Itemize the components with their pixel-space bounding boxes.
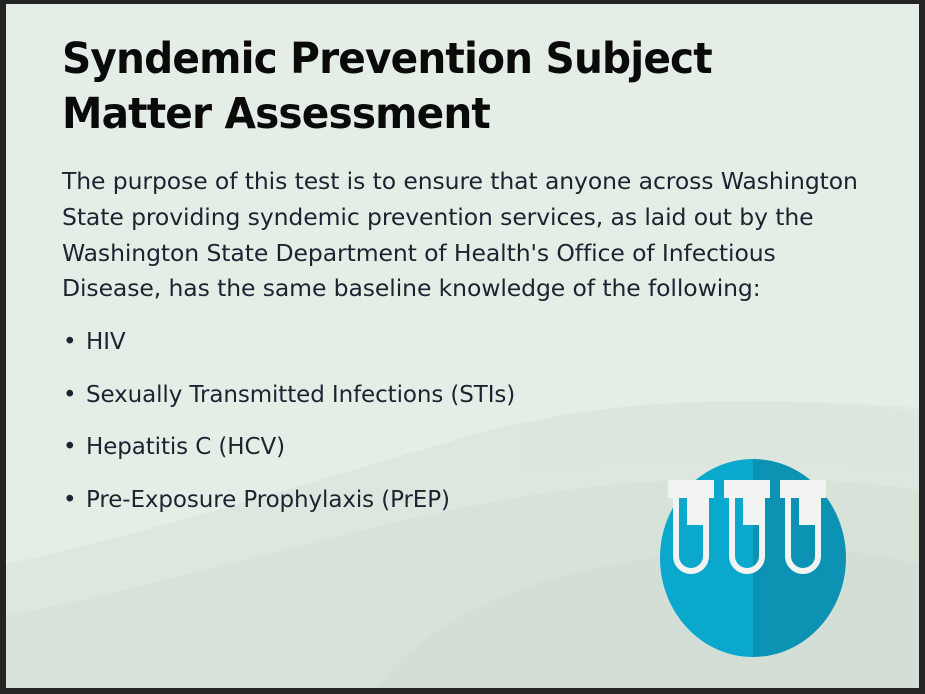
test-tube-fill xyxy=(743,494,763,525)
slide-description: The purpose of this test is to ensure th… xyxy=(62,164,874,307)
topic-list: • HIV • Sexually Transmitted Infections … xyxy=(62,329,762,514)
bullet-icon: • xyxy=(63,434,76,462)
test-tube-cap xyxy=(668,480,714,498)
test-tube-cap xyxy=(780,480,826,498)
page-title: Syndemic Prevention Subject Matter Asses… xyxy=(62,32,853,142)
list-item-label: Hepatitis C (HCV) xyxy=(86,434,285,460)
bullet-icon: • xyxy=(63,487,76,515)
list-item-label: Pre-Exposure Prophylaxis (PrEP) xyxy=(86,487,450,513)
list-item-label: Sexually Transmitted Infections (STIs) xyxy=(86,382,515,408)
bullet-icon: • xyxy=(63,382,76,410)
list-item: • Pre-Exposure Prophylaxis (PrEP) xyxy=(62,487,762,515)
test-tube-cap xyxy=(724,480,770,498)
list-item: • Sexually Transmitted Infections (STIs) xyxy=(62,382,762,410)
list-item: • Hepatitis C (HCV) xyxy=(62,434,762,462)
list-item-label: HIV xyxy=(86,329,126,355)
test-tubes-icon xyxy=(659,458,847,659)
slide-container: Syndemic Prevention Subject Matter Asses… xyxy=(0,0,925,694)
test-tube-cap-group xyxy=(668,480,826,498)
list-item: • HIV xyxy=(62,329,762,357)
bullet-icon: • xyxy=(63,329,76,357)
test-tube-fill xyxy=(799,494,819,525)
test-tube-fill xyxy=(687,494,707,525)
